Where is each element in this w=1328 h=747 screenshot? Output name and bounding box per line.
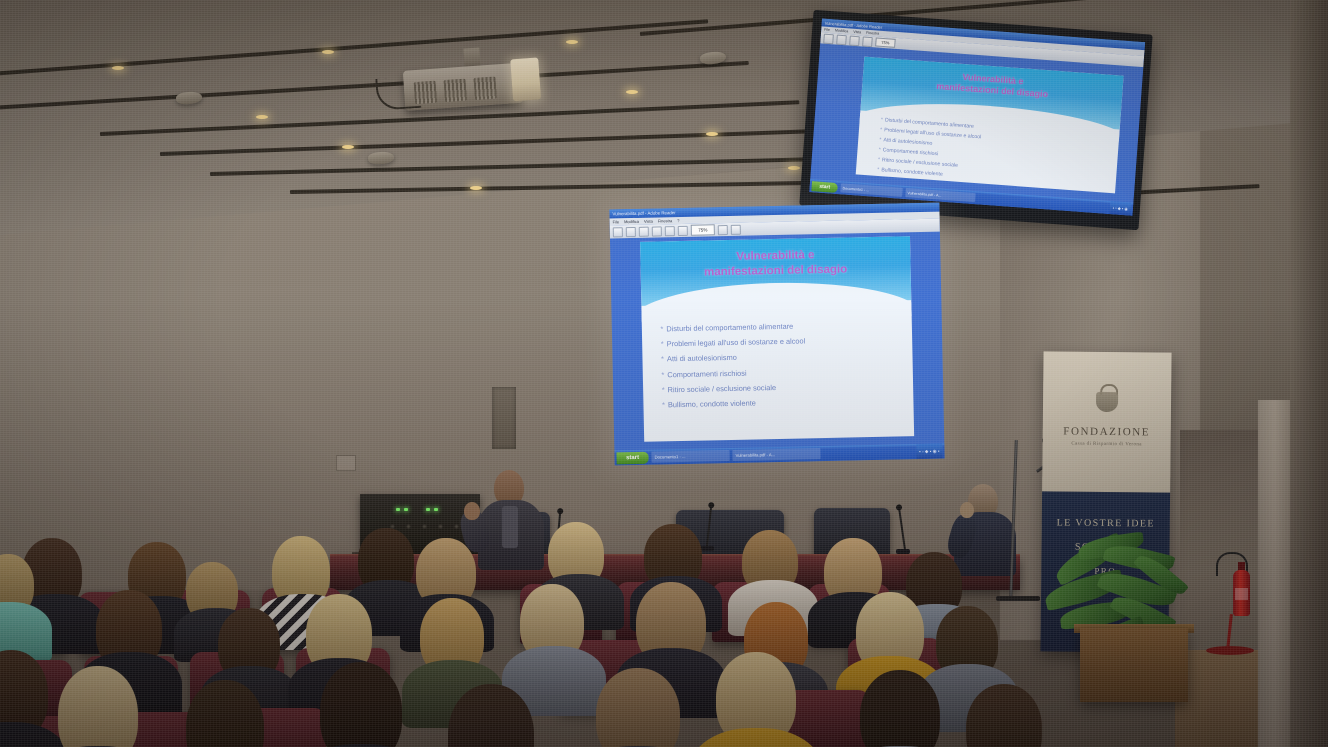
toolbar-button-next[interactable] <box>678 225 688 235</box>
toolbar-button-print[interactable] <box>639 226 649 236</box>
menu-edit[interactable]: Modifica <box>624 219 639 224</box>
taskbar-item[interactable]: Vulnerabilita.pdf - A... <box>732 448 820 461</box>
menu-window[interactable]: Finestra <box>658 218 673 223</box>
menu-view[interactable]: Vista <box>853 30 861 35</box>
ceiling-downlight <box>342 145 354 149</box>
toolbar-button[interactable] <box>836 34 847 45</box>
toolbar-button-zoomin[interactable] <box>731 224 741 234</box>
bullet-marker: * <box>661 337 664 352</box>
toolbar-button[interactable] <box>823 33 834 44</box>
bullet-marker: * <box>878 145 881 155</box>
bullet-text: Atti di autolesionismo <box>667 350 737 367</box>
slide-bullet: *Bullismo, condotte violente <box>662 394 807 412</box>
fire-extinguisher-base <box>1206 646 1254 655</box>
audience-head <box>860 670 940 747</box>
bullet-marker: * <box>880 115 883 125</box>
audience-area <box>0 520 1060 747</box>
menu-file[interactable]: File <box>824 28 830 32</box>
banner-slogan-line1: LE VOSTRE IDEE <box>1042 517 1170 529</box>
panelist-hand <box>960 502 974 518</box>
toolbar-button[interactable] <box>849 35 860 46</box>
audience-head <box>596 668 680 747</box>
planter-box <box>1080 628 1188 702</box>
slide-canvas: Vulnerabilità e manifestazioni del disag… <box>640 236 915 441</box>
slide-bullet: *Problemi legati all'uso di sostanze e a… <box>661 334 806 352</box>
bullet-marker: * <box>880 125 883 135</box>
toolbar-button[interactable] <box>862 36 873 47</box>
bullet-text: Bullismo, condotte violente <box>668 395 756 412</box>
system-tray[interactable]: ▪ ▫ ◆ ▪ ◉ <box>1109 201 1131 216</box>
banner-subtitle: Cassa di Risparmio di Verona <box>1043 441 1171 447</box>
bullet-marker: * <box>661 367 664 382</box>
ceiling-downlight <box>788 166 800 170</box>
ceiling-downlight <box>566 40 578 44</box>
banner-organization: FONDAZIONE <box>1043 425 1171 438</box>
rack-led <box>434 508 438 511</box>
projection-screen: Vulnerabilita.pdf - Adobe Reader File Mo… <box>609 203 944 466</box>
ceiling-downlight <box>322 50 334 54</box>
taskbar-item[interactable]: Documento1 - ... <box>651 450 729 463</box>
conference-room-photo: Vulnerabilita.pdf - Adobe Reader File Mo… <box>0 0 1328 747</box>
bullet-marker: * <box>662 382 665 397</box>
slide-bullets: *Disturbi del comportamento alimentare *… <box>877 115 983 183</box>
window-title: Vulnerabilita.pdf - Adobe Reader <box>612 210 675 216</box>
slide-bullets: *Disturbi del comportamento alimentare *… <box>660 319 806 413</box>
toolbar-button-prev[interactable] <box>665 226 675 236</box>
menu-view[interactable]: Vista <box>644 219 653 224</box>
wall-outlet-plate <box>336 455 356 471</box>
toolbar-button-zoomout[interactable] <box>718 225 728 235</box>
projected-desktop: Vulnerabilita.pdf - Adobe Reader File Mo… <box>609 203 944 466</box>
banner-top-panel: FONDAZIONE Cassa di Risparmio di Verona <box>1042 351 1171 492</box>
ceiling-downlight <box>470 186 482 190</box>
bullet-text: Ritiro sociale / esclusione sociale <box>667 380 776 397</box>
bullet-marker: * <box>661 352 664 367</box>
audience-head <box>320 662 402 747</box>
toolbar-button-save[interactable] <box>626 226 636 236</box>
toolbar-button-open[interactable] <box>613 227 623 237</box>
bullet-marker: * <box>879 135 882 145</box>
wall-panel <box>492 387 516 449</box>
ceiling-downlight <box>112 66 124 70</box>
rack-led <box>404 508 408 511</box>
start-button[interactable]: start <box>811 181 838 193</box>
bullet-text: Problemi legati all'uso di sostanze e al… <box>666 334 805 352</box>
ceiling-downlight <box>706 132 718 136</box>
taskbar-item[interactable]: Vulnerabilita.pdf - A... <box>905 188 975 202</box>
zoom-level[interactable]: 75% <box>691 224 715 236</box>
zoom-level[interactable]: 75% <box>875 37 896 47</box>
start-button[interactable]: start <box>616 451 648 464</box>
bullet-marker: * <box>660 322 663 337</box>
projector-vent <box>473 76 496 99</box>
taskbar-item[interactable]: Documento1 - ... <box>840 183 902 197</box>
projector-mount <box>463 48 480 67</box>
fire-extinguisher-label <box>1235 588 1248 600</box>
bullet-marker: * <box>878 155 881 165</box>
menu-help[interactable]: ? <box>677 218 679 223</box>
monitor-screen: Vulnerabilita.pdf - Adobe Reader File Mo… <box>809 18 1145 215</box>
rack-led <box>396 508 400 511</box>
slide-canvas: Vulnerabilità e manifestazioni del disag… <box>856 56 1123 193</box>
right-wall-edge <box>1290 0 1328 747</box>
menu-file[interactable]: File <box>613 219 620 224</box>
toolbar-button-email[interactable] <box>652 226 662 236</box>
bullet-marker: * <box>662 397 665 412</box>
system-tray[interactable]: ▪ ▫ ◆ ▪ ◉ ▪ <box>916 444 943 460</box>
desktop: Vulnerabilita.pdf - Adobe Reader File Mo… <box>809 18 1145 215</box>
presenter-hand <box>464 502 480 520</box>
bullet-text: Comportamenti rischiosi <box>667 365 747 382</box>
wall-monitor[interactable]: Vulnerabilita.pdf - Adobe Reader File Mo… <box>799 10 1152 230</box>
ceiling-projector <box>402 55 545 117</box>
rack-led <box>426 508 430 511</box>
projector-vent <box>444 79 467 102</box>
projector-lens <box>510 57 541 101</box>
ceiling-downlight <box>626 90 638 94</box>
crest-icon <box>1094 384 1120 414</box>
ceiling-downlight <box>256 115 268 119</box>
slide-title: Vulnerabilità e manifestazioni del disag… <box>640 246 911 280</box>
bullet-marker: * <box>877 165 880 175</box>
